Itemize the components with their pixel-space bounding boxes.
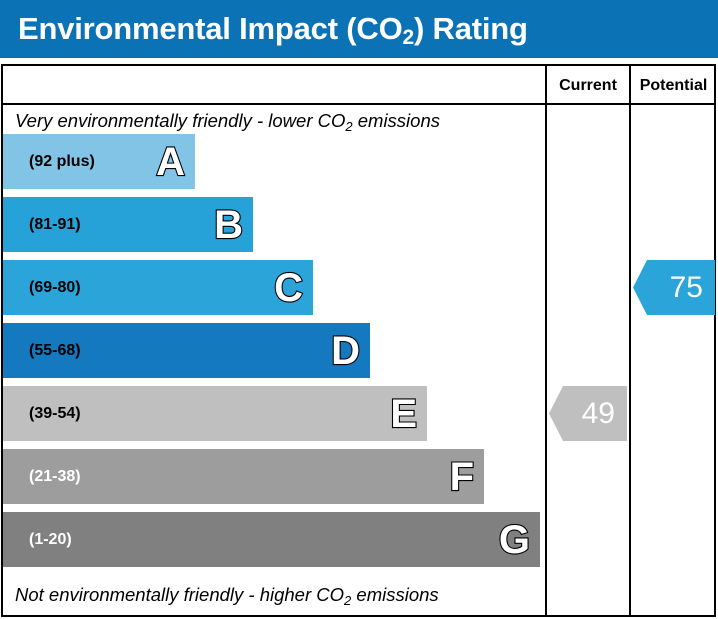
band-range-c: (69-80) xyxy=(29,279,81,297)
band-range-g: (1-20) xyxy=(29,531,72,549)
current-rating-marker: 49 xyxy=(549,386,627,441)
band-e: (39-54)E xyxy=(3,386,427,441)
band-d: (55-68)D xyxy=(3,323,370,378)
band-range-b: (81-91) xyxy=(29,216,81,234)
epc-environmental-impact-chart: Environmental Impact (CO2) Rating Curren… xyxy=(0,0,718,619)
band-f: (21-38)F xyxy=(3,449,484,504)
band-letter-b: B xyxy=(214,205,243,245)
band-letter-d: D xyxy=(331,331,360,371)
caption-bottom: Not environmentally friendly - higher CO… xyxy=(15,584,439,606)
band-letter-c: C xyxy=(274,268,303,308)
rating-table: Current Potential Very environmentally f… xyxy=(1,64,716,617)
potential-column-divider xyxy=(629,66,631,615)
band-list: (92 plus)A(81-91)B(69-80)C(55-68)D(39-54… xyxy=(3,66,545,615)
current-rating-value: 49 xyxy=(582,397,615,431)
current-column-divider xyxy=(545,66,547,615)
band-letter-a: A xyxy=(156,142,185,182)
band-letter-g: G xyxy=(499,520,530,560)
page-title: Environmental Impact (CO2) Rating xyxy=(18,11,528,47)
caption-bottom-suffix: emissions xyxy=(351,584,438,605)
band-range-a: (92 plus) xyxy=(29,153,95,171)
band-letter-e: E xyxy=(390,394,417,434)
potential-rating-value: 75 xyxy=(670,271,703,305)
title-prefix: Environmental Impact (CO xyxy=(18,11,403,46)
potential-rating-marker: 75 xyxy=(633,260,715,315)
potential-column-header: Potential xyxy=(631,75,716,97)
title-subscript: 2 xyxy=(403,26,414,49)
band-c: (69-80)C xyxy=(3,260,313,315)
band-letter-f: F xyxy=(450,457,474,497)
title-bar: Environmental Impact (CO2) Rating xyxy=(0,0,718,58)
caption-bottom-subscript: 2 xyxy=(344,593,351,608)
band-g: (1-20)G xyxy=(3,512,540,567)
title-suffix: ) Rating xyxy=(414,11,528,46)
band-range-e: (39-54) xyxy=(29,405,81,423)
band-range-f: (21-38) xyxy=(29,468,81,486)
band-range-d: (55-68) xyxy=(29,342,81,360)
caption-bottom-prefix: Not environmentally friendly - higher CO xyxy=(15,584,344,605)
band-b: (81-91)B xyxy=(3,197,253,252)
current-column-header: Current xyxy=(547,75,629,97)
band-a: (92 plus)A xyxy=(3,134,195,189)
